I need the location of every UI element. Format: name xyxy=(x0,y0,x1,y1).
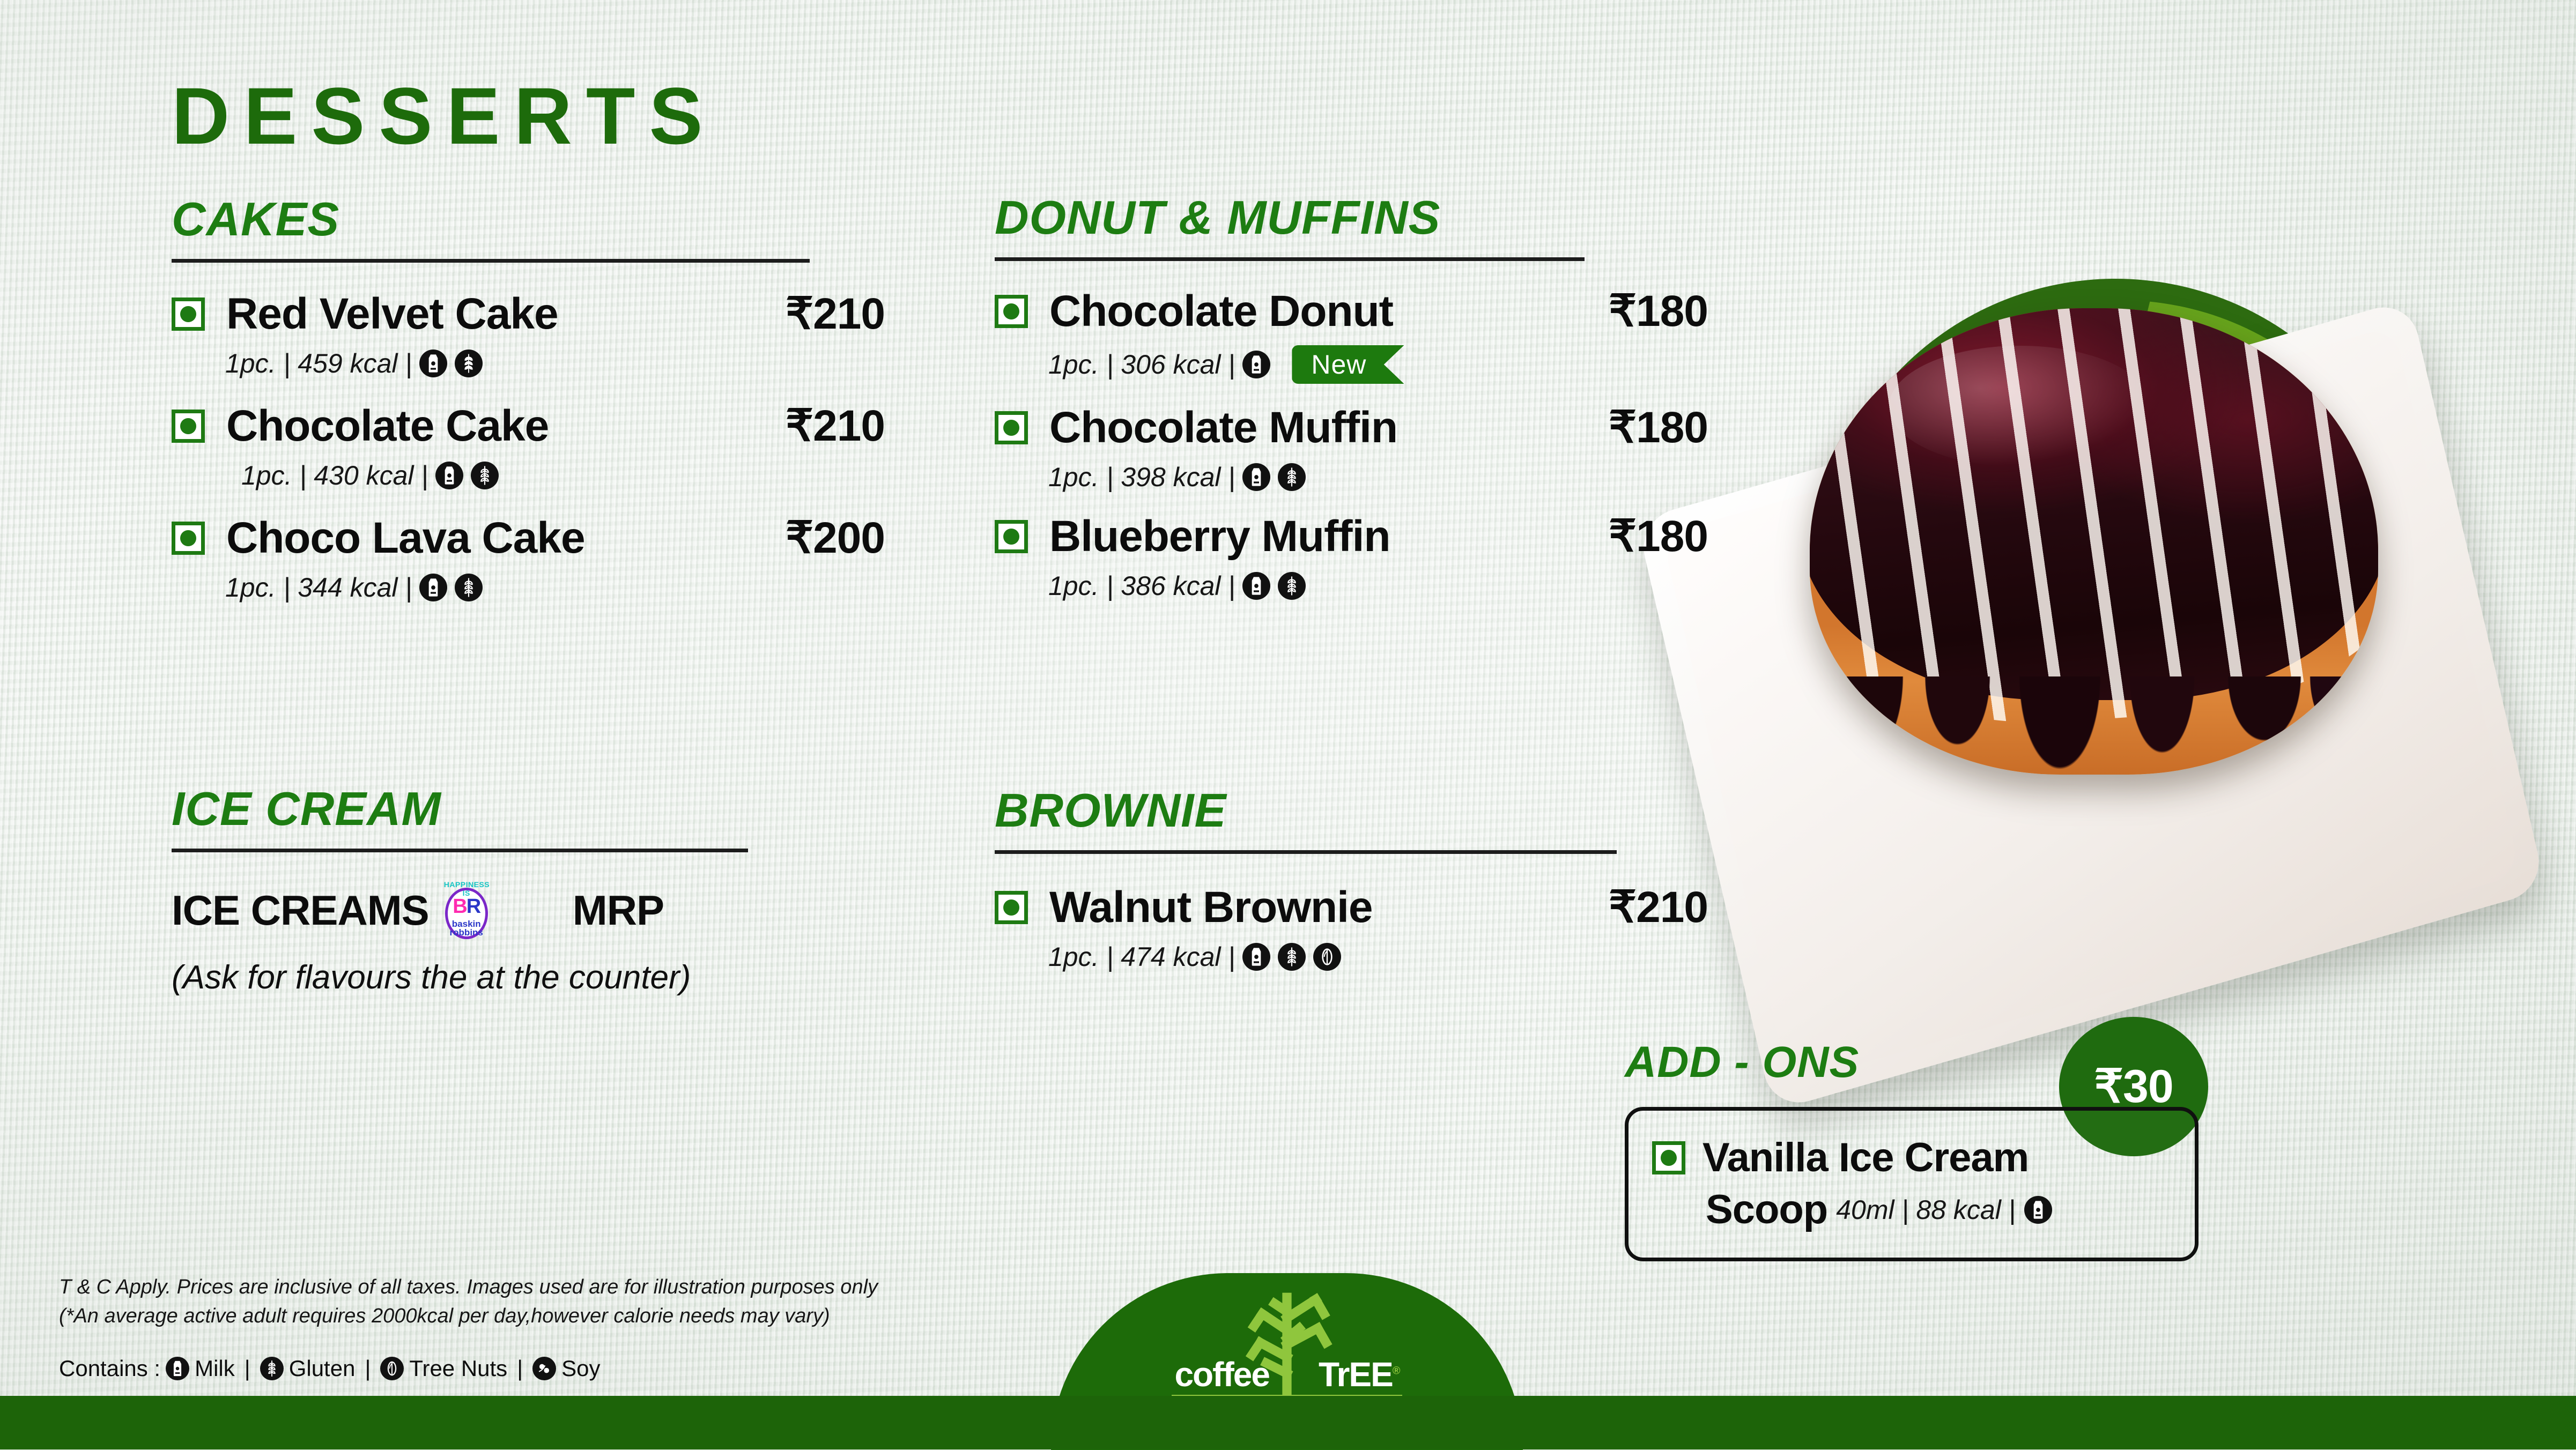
item-price: ₹210 xyxy=(786,400,885,451)
terms-line-2: (*An average active adult requires 2000k… xyxy=(59,1302,971,1331)
item-name: Chocolate Cake xyxy=(226,401,549,451)
item-price: ₹180 xyxy=(1609,402,1708,453)
item-meta-text: 1pc. | 474 kcal | xyxy=(1048,941,1235,972)
item-meta-text: 1pc. | 430 kcal | xyxy=(241,460,428,491)
gluten-icon xyxy=(471,462,499,489)
add-on-item-name-line2: Scoop xyxy=(1706,1186,1827,1233)
item-name: Chocolate Donut xyxy=(1049,286,1393,337)
menu-item-chocolate-muffin[interactable]: Chocolate Muffin ₹180 1pc. | 398 kcal | xyxy=(995,402,1708,493)
contains-label: Contains : xyxy=(59,1356,160,1381)
tree-nuts-icon xyxy=(380,1357,404,1380)
item-name: Chocolate Muffin xyxy=(1049,403,1397,453)
legend-label-gluten: Gluten xyxy=(289,1356,356,1381)
veg-mark-icon xyxy=(995,411,1028,444)
page-title: DESSERTS xyxy=(172,70,717,162)
gluten-icon xyxy=(260,1357,284,1380)
item-price: ₹180 xyxy=(1609,511,1708,562)
milk-icon xyxy=(419,574,447,601)
veg-mark-icon xyxy=(1652,1141,1685,1174)
legend-separator: | xyxy=(517,1356,523,1381)
milk-icon xyxy=(1242,572,1270,600)
milk-icon xyxy=(1242,943,1270,971)
item-meta-text: 1pc. | 306 kcal | xyxy=(1048,349,1235,380)
legend-label-soy: Soy xyxy=(561,1356,600,1381)
section-divider-cakes xyxy=(172,259,810,263)
gluten-icon xyxy=(455,574,483,601)
legend-label-milk: Milk xyxy=(195,1356,235,1381)
add-on-item-meta: 40ml | 88 kcal | xyxy=(1836,1194,2015,1225)
baskin-robbins-logo-icon: HAPPINESS IS BR baskin robbins xyxy=(441,880,492,940)
gluten-icon xyxy=(455,350,483,377)
footer-disclaimer: T & C Apply. Prices are inclusive of all… xyxy=(59,1273,971,1381)
bottom-green-bar xyxy=(0,1396,2576,1449)
cakes-section: CAKES Red Velvet Cake ₹210 1pc. | 459 kc… xyxy=(172,196,885,603)
br-wordmark: baskin robbins xyxy=(445,920,488,937)
section-divider-donut-muffins xyxy=(995,257,1585,261)
brownie-section: BROWNIE Walnut Brownie ₹210 1pc. | 474 k… xyxy=(995,787,1708,972)
section-heading-donut-muffins: DONUT & MUFFINS xyxy=(995,194,1708,241)
gluten-icon xyxy=(1278,943,1306,971)
menu-item-blueberry-muffin[interactable]: Blueberry Muffin ₹180 1pc. | 386 kcal | xyxy=(995,511,1708,601)
item-name: Choco Lava Cake xyxy=(226,513,585,563)
menu-item-red-velvet-cake[interactable]: Red Velvet Cake ₹210 1pc. | 459 kcal | xyxy=(172,288,885,379)
ice-cream-section: ICE CREAM ICE CREAMS HAPPINESS IS BR bas… xyxy=(172,785,885,997)
section-heading-cakes: CAKES xyxy=(172,196,885,243)
section-heading-brownie: BROWNIE xyxy=(995,787,1708,834)
item-meta-text: 1pc. | 386 kcal | xyxy=(1048,570,1235,601)
veg-mark-icon xyxy=(995,520,1028,553)
milk-icon xyxy=(1242,463,1270,491)
veg-mark-icon xyxy=(995,891,1028,924)
item-price: ₹200 xyxy=(786,512,885,563)
veg-mark-icon xyxy=(172,298,205,331)
item-name: Red Velvet Cake xyxy=(226,289,558,339)
milk-icon xyxy=(419,350,447,377)
section-divider-ice-cream xyxy=(172,849,748,852)
item-name: ICE CREAMS xyxy=(172,886,429,935)
add-on-item-name-line1: Vanilla Ice Cream xyxy=(1702,1134,2029,1181)
item-price: ₹210 xyxy=(1609,882,1708,933)
item-price: MRP xyxy=(573,886,664,935)
item-name: Blueberry Muffin xyxy=(1049,511,1390,562)
milk-icon xyxy=(1242,351,1270,378)
soy-icon xyxy=(532,1357,556,1380)
item-price: ₹180 xyxy=(1609,286,1708,337)
gluten-icon xyxy=(1278,463,1306,491)
terms-line-1: T & C Apply. Prices are inclusive of all… xyxy=(59,1273,971,1302)
item-meta-text: 1pc. | 398 kcal | xyxy=(1048,462,1235,493)
section-heading-ice-cream: ICE CREAM xyxy=(172,785,885,832)
milk-icon xyxy=(2024,1196,2052,1224)
brand-name-part1: coffee xyxy=(1174,1355,1269,1394)
legend-separator: | xyxy=(245,1356,250,1381)
brand-name-part2: TrEE xyxy=(1319,1355,1393,1394)
allergen-legend: Contains : Milk | Gluten | Tree Nuts | S… xyxy=(59,1356,971,1381)
menu-item-ice-creams[interactable]: ICE CREAMS HAPPINESS IS BR baskin robbin… xyxy=(172,880,885,940)
add-ons-section: ADD - ONS ₹30 Vanilla Ice Cream Scoop 40… xyxy=(1625,1037,2199,1261)
veg-mark-icon xyxy=(172,410,205,443)
menu-item-walnut-brownie[interactable]: Walnut Brownie ₹210 1pc. | 474 kcal | xyxy=(995,882,1708,972)
item-meta-text: 1pc. | 459 kcal | xyxy=(225,348,412,379)
veg-mark-icon xyxy=(172,522,205,555)
item-meta-text: 1pc. | 344 kcal | xyxy=(225,572,412,603)
tree-nuts-icon xyxy=(1313,943,1341,971)
section-divider-brownie xyxy=(995,850,1617,854)
menu-item-chocolate-donut[interactable]: Chocolate Donut ₹180 1pc. | 306 kcal | N… xyxy=(995,286,1708,384)
registered-mark: ® xyxy=(1393,1365,1400,1377)
legend-label-tree-nuts: Tree Nuts xyxy=(409,1356,507,1381)
legend-separator: | xyxy=(365,1356,371,1381)
new-badge: New xyxy=(1292,345,1404,384)
veg-mark-icon xyxy=(995,295,1028,328)
milk-icon xyxy=(166,1357,189,1380)
menu-item-chocolate-cake[interactable]: Chocolate Cake ₹210 1pc. | 430 kcal | xyxy=(172,400,885,491)
menu-item-choco-lava-cake[interactable]: Choco Lava Cake ₹200 1pc. | 344 kcal | xyxy=(172,512,885,603)
milk-icon xyxy=(435,462,463,489)
item-price: ₹210 xyxy=(786,288,885,339)
gluten-icon xyxy=(1278,572,1306,600)
item-name: Walnut Brownie xyxy=(1049,882,1372,933)
add-ons-box[interactable]: Vanilla Ice Cream Scoop 40ml | 88 kcal | xyxy=(1625,1107,2199,1261)
donut-muffins-section: DONUT & MUFFINS Chocolate Donut ₹180 1pc… xyxy=(995,194,1708,601)
ice-cream-note: (Ask for flavours the at the counter) xyxy=(172,958,885,997)
